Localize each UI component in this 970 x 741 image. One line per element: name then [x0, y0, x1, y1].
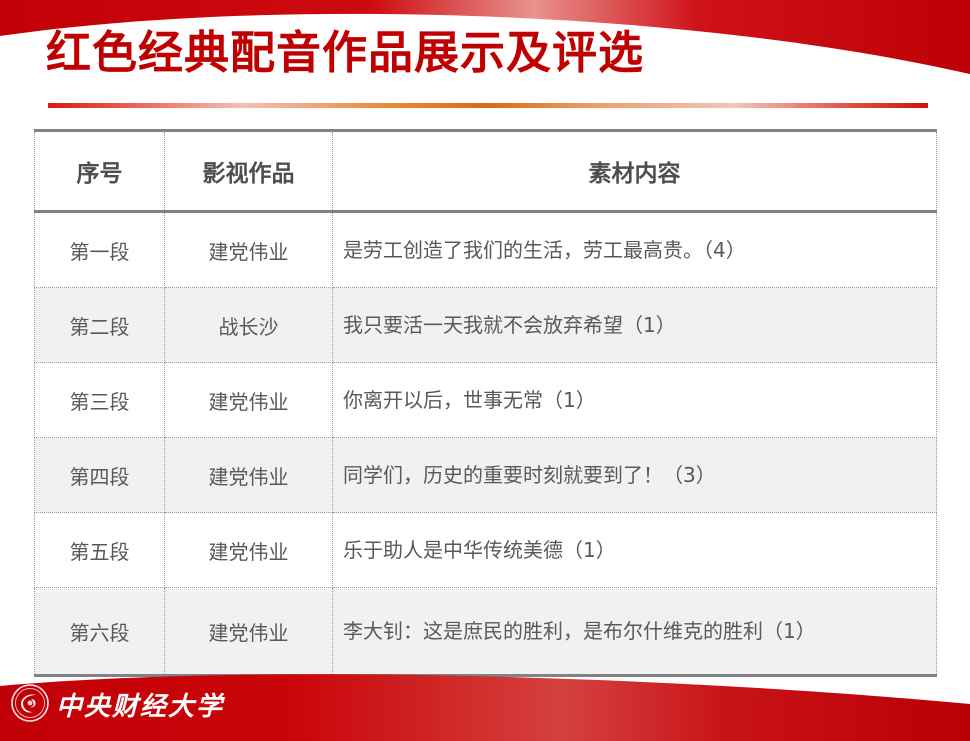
cell-work: 战长沙 — [165, 288, 333, 363]
page-title: 红色经典配音作品展示及评选 — [46, 30, 644, 75]
cell-sequence: 第二段 — [35, 288, 165, 363]
cell-work: 建党伟业 — [165, 212, 333, 288]
cell-work: 建党伟业 — [165, 438, 333, 513]
column-header-sequence: 序号 — [35, 131, 165, 212]
cell-content: 你离开以后，世事无常（1） — [333, 363, 937, 438]
cell-content: 乐于助人是中华传统美德（1） — [333, 513, 937, 588]
slide-canvas: 红色经典配音作品展示及评选 序号 影视作品 素材内容 第一段 建党伟业 是劳工创… — [0, 0, 970, 741]
dubbing-works-table: 序号 影视作品 素材内容 第一段 建党伟业 是劳工创造了我们的生活，劳工最高贵。… — [34, 129, 937, 677]
content-table-container: 序号 影视作品 素材内容 第一段 建党伟业 是劳工创造了我们的生活，劳工最高贵。… — [34, 129, 936, 677]
title-divider-rule — [48, 103, 928, 108]
table-row: 第二段 战长沙 我只要活一天我就不会放弃希望（1） — [35, 288, 937, 363]
column-header-work: 影视作品 — [165, 131, 333, 212]
table-row: 第三段 建党伟业 你离开以后，世事无常（1） — [35, 363, 937, 438]
table-body: 第一段 建党伟业 是劳工创造了我们的生活，劳工最高贵。（4） 第二段 战长沙 我… — [35, 212, 937, 676]
cell-sequence: 第四段 — [35, 438, 165, 513]
cell-work: 建党伟业 — [165, 513, 333, 588]
table-header-row: 序号 影视作品 素材内容 — [35, 131, 937, 212]
table-row: 第四段 建党伟业 同学们，历史的重要时刻就要到了！（3） — [35, 438, 937, 513]
cell-content: 同学们，历史的重要时刻就要到了！（3） — [333, 438, 937, 513]
table-row: 第一段 建党伟业 是劳工创造了我们的生活，劳工最高贵。（4） — [35, 212, 937, 288]
table-row: 第五段 建党伟业 乐于助人是中华传统美德（1） — [35, 513, 937, 588]
cell-sequence: 第三段 — [35, 363, 165, 438]
column-header-content: 素材内容 — [333, 131, 937, 212]
university-seal-icon — [10, 683, 50, 723]
table-header: 序号 影视作品 素材内容 — [35, 131, 937, 212]
footer-university-name: 中央财经大学 — [56, 686, 224, 723]
cell-content: 是劳工创造了我们的生活，劳工最高贵。（4） — [333, 212, 937, 288]
cell-work: 建党伟业 — [165, 363, 333, 438]
cell-sequence: 第五段 — [35, 513, 165, 588]
cell-content: 我只要活一天我就不会放弃希望（1） — [333, 288, 937, 363]
cell-sequence: 第一段 — [35, 212, 165, 288]
